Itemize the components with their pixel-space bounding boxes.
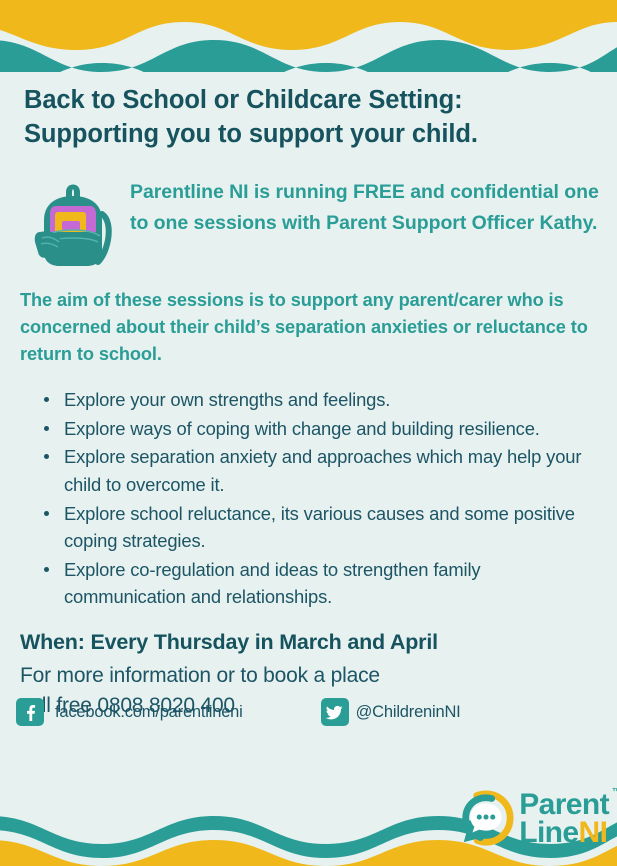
logo-line-2: LineNI bbox=[519, 819, 609, 847]
title-line-1: Back to School or Childcare Setting: bbox=[24, 86, 462, 114]
facebook-icon[interactable] bbox=[16, 698, 44, 726]
list-item: Explore school reluctance, its various c… bbox=[42, 500, 599, 555]
poster: Back to School or Childcare Setting: Sup… bbox=[0, 0, 617, 866]
title-line-2: Supporting you to support your child. bbox=[24, 118, 599, 152]
trademark-symbol: ™ bbox=[612, 788, 617, 797]
list-item: Explore ways of coping with change and b… bbox=[42, 415, 599, 443]
logo-wordmark: Parent LineNI ™ bbox=[519, 791, 609, 846]
poster-content: Back to School or Childcare Setting: Sup… bbox=[0, 72, 617, 721]
top-wave-decoration bbox=[0, 0, 617, 72]
facebook-label: facebook.com/parentlineni bbox=[55, 703, 243, 722]
page-title: Back to School or Childcare Setting: Sup… bbox=[24, 84, 599, 151]
speech-bubble-logo-icon bbox=[457, 790, 515, 848]
aim-paragraph: The aim of these sessions is to support … bbox=[20, 287, 599, 368]
parentline-logo: Parent LineNI ™ bbox=[457, 790, 609, 848]
twitter-label: @ChildreninNI bbox=[356, 703, 461, 722]
logo-line-1: Parent bbox=[519, 791, 609, 819]
list-item: Explore separation anxiety and approache… bbox=[42, 443, 599, 498]
list-item: Explore your own strengths and feelings. bbox=[42, 386, 599, 414]
social-links: facebook.com/parentlineni @ChildreninNI bbox=[16, 698, 601, 726]
logo-line-text: Line bbox=[519, 816, 578, 849]
twitter-link[interactable]: @ChildreninNI bbox=[321, 698, 461, 726]
list-item: Explore co-regulation and ideas to stren… bbox=[42, 556, 599, 611]
session-topics-list: Explore your own strengths and feelings.… bbox=[42, 386, 599, 611]
schedule-text: When: Every Thursday in March and April bbox=[20, 630, 599, 655]
intro-text: Parentline NI is running FREE and confid… bbox=[130, 170, 599, 237]
backpack-icon bbox=[22, 176, 124, 276]
logo-ni-text: NI bbox=[579, 816, 608, 849]
intro-section: Parentline NI is running FREE and confid… bbox=[22, 170, 599, 276]
facebook-link[interactable]: facebook.com/parentlineni bbox=[16, 698, 243, 726]
twitter-icon[interactable] bbox=[321, 698, 349, 726]
booking-line-1: For more information or to book a place bbox=[20, 661, 599, 691]
